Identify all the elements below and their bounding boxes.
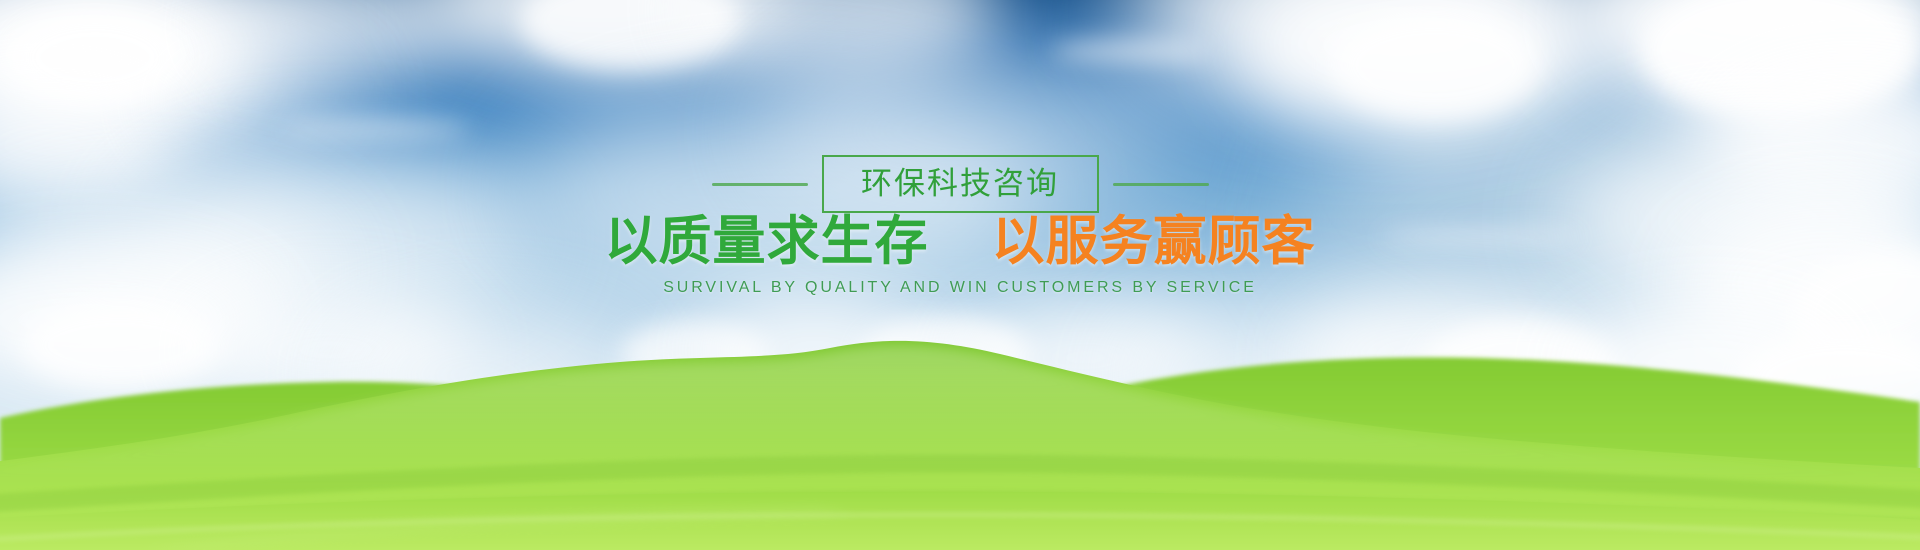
subtitle: SURVIVAL BY QUALITY AND WIN CUSTOMERS BY… — [0, 279, 1920, 297]
left-rule-decoration — [712, 183, 808, 186]
headline: 以质量求生存 以服务赢顾客 — [0, 214, 1920, 270]
badge-box: 环保科技咨询 — [822, 155, 1099, 213]
banner-content: 环保科技咨询 以质量求生存 以服务赢顾客 SURVIVAL BY QUALITY… — [0, 0, 1920, 550]
right-rule-decoration — [1113, 183, 1209, 186]
headline-orange-segment: 以服务赢顾客 — [991, 211, 1315, 272]
headline-green-segment: 以质量求生存 — [605, 211, 929, 272]
badge-row: 环保科技咨询 — [0, 155, 1920, 213]
hero-banner: 环保科技咨询 以质量求生存 以服务赢顾客 SURVIVAL BY QUALITY… — [0, 0, 1920, 550]
badge-label: 环保科技咨询 — [861, 169, 1059, 200]
